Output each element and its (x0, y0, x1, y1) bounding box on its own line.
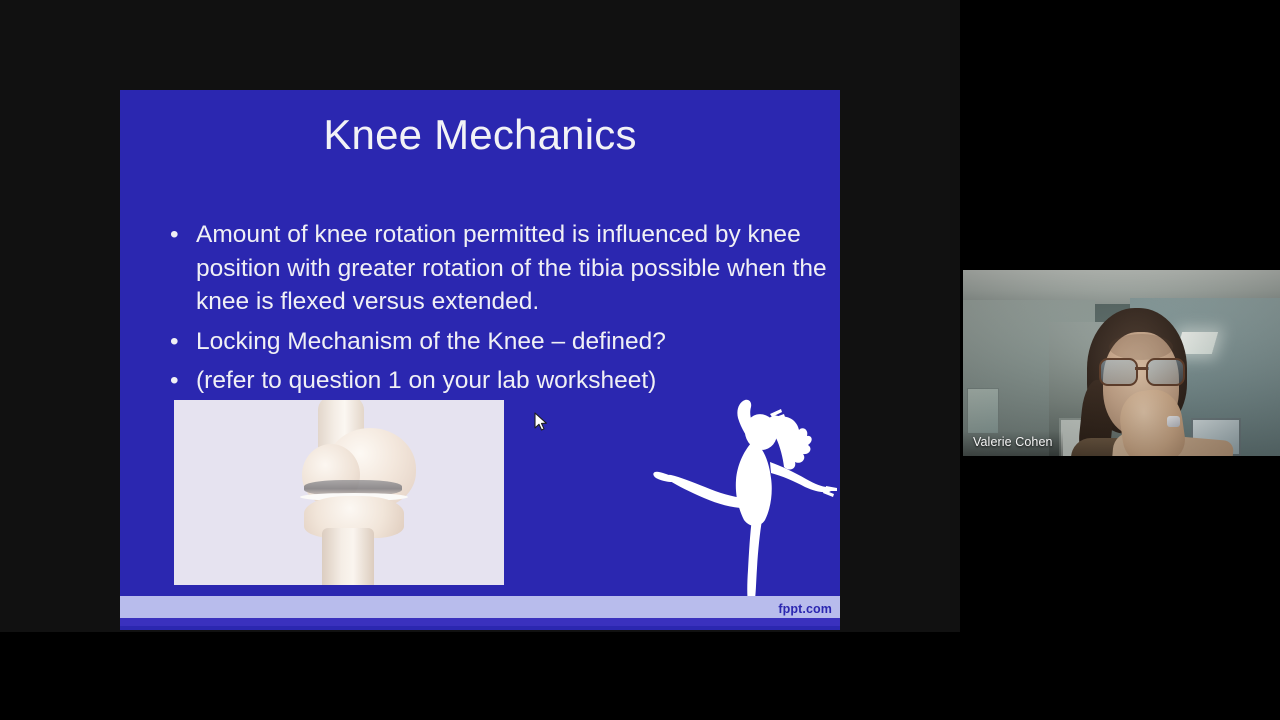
participant-name-label: Valerie Cohen (963, 431, 1063, 456)
slide-title: Knee Mechanics (120, 112, 840, 158)
slide-footer-bar (120, 596, 840, 618)
bullet-text: (refer to question 1 on your lab workshe… (196, 367, 656, 394)
webcam-video-feed (963, 270, 1280, 456)
bullet-dot: • (170, 218, 179, 252)
slide-footer-underline (120, 618, 840, 626)
bullet-text: Amount of knee rotation permitted is inf… (196, 221, 827, 315)
person-forehead-shadow (1109, 334, 1173, 360)
bullet-text: Locking Mechanism of the Knee – defined? (196, 328, 666, 355)
dancer-silhouette-image (644, 380, 840, 620)
wall-picture-left (967, 388, 999, 434)
screen: Knee Mechanics • Amount of knee rotation… (0, 0, 1280, 720)
person-ring (1167, 416, 1180, 427)
participant-video-tile[interactable]: Valerie Cohen (963, 270, 1280, 456)
tibia-shaft (322, 528, 374, 585)
slide-bullet-list: • Amount of knee rotation permitted is i… (142, 218, 832, 404)
dancer-icon (644, 380, 840, 620)
glasses-lens-right (1146, 358, 1185, 386)
glasses-lens-left (1099, 358, 1138, 386)
eyeglasses (1099, 358, 1185, 384)
knee-anatomy-image (174, 400, 504, 585)
fppt-watermark: fppt.com (778, 602, 832, 616)
list-item: • Amount of knee rotation permitted is i… (142, 218, 832, 319)
presentation-slide[interactable]: Knee Mechanics • Amount of knee rotation… (120, 90, 840, 630)
bullet-dot: • (170, 325, 179, 359)
list-item: • Locking Mechanism of the Knee – define… (142, 325, 832, 359)
bullet-dot: • (170, 364, 179, 398)
